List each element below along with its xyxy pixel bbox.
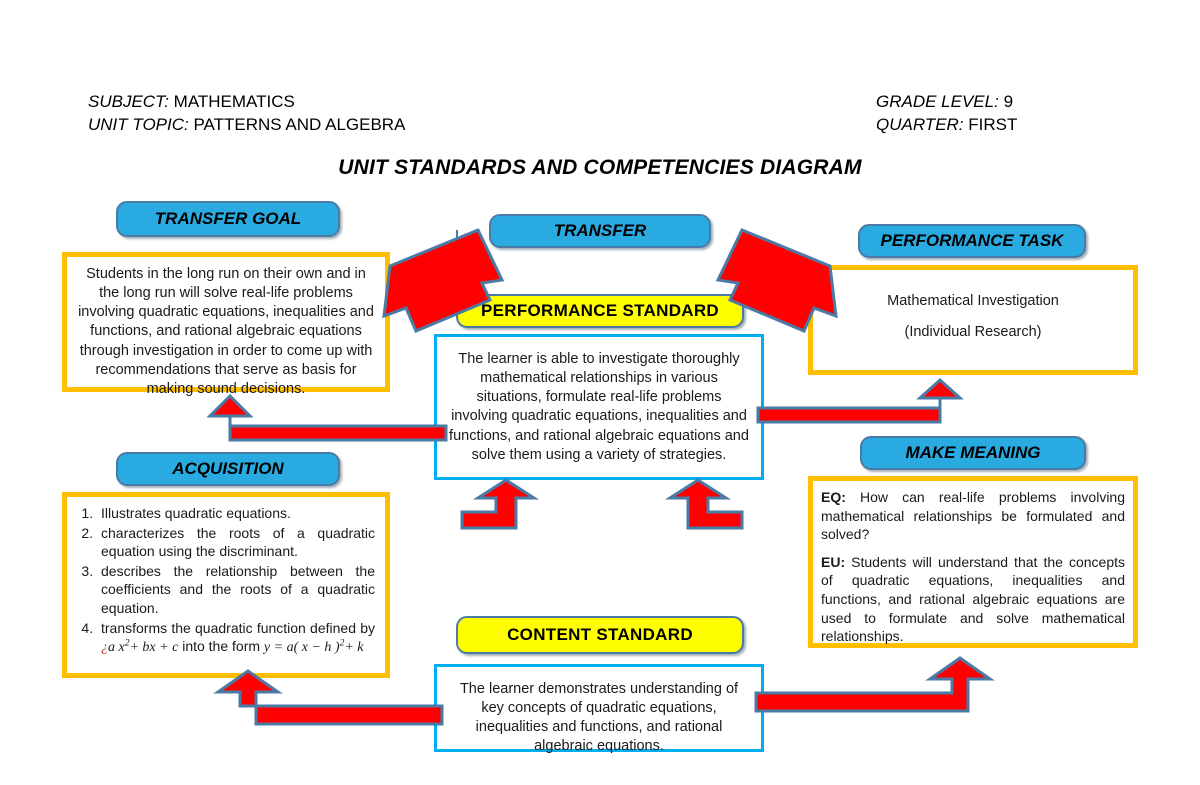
list-item: Illustrates quadratic equations. bbox=[97, 504, 375, 523]
header-grade-label: GRADE LEVEL: bbox=[876, 92, 999, 111]
diagram-canvas: SUBJECT: MATHEMATICS UNIT TOPIC: PATTERN… bbox=[0, 0, 1200, 785]
eq-label: EQ: bbox=[821, 489, 846, 505]
eu-label: EU: bbox=[821, 554, 845, 570]
header-subject-label: SUBJECT: bbox=[88, 92, 169, 111]
list-item-with-formula: transforms the quadratic function define… bbox=[97, 619, 375, 658]
arrow-diagonal-left-to-transfer bbox=[378, 228, 508, 333]
pill-transfer-goal-label: TRANSFER GOAL bbox=[155, 209, 301, 229]
make-meaning-eu: EU: Students will understand that the co… bbox=[821, 553, 1125, 646]
header-subject-value: MATHEMATICS bbox=[174, 92, 295, 111]
performance-standard-text: The learner is able to investigate thoro… bbox=[437, 337, 761, 473]
pill-acquisition-label: ACQUISITION bbox=[172, 459, 283, 479]
header-unit-topic-value: PATTERNS AND ALGEBRA bbox=[193, 115, 405, 134]
acquisition-item4-text-1: transforms the quadratic function define… bbox=[101, 620, 375, 636]
header-grade-value: 9 bbox=[1004, 92, 1013, 111]
box-make-meaning: EQ: How can real-life problems involving… bbox=[808, 476, 1138, 648]
box-performance-task: Mathematical Investigation (Individual R… bbox=[808, 265, 1138, 375]
arrow-elbow-content-to-make-meaning bbox=[756, 655, 1004, 727]
performance-task-line-1: Mathematical Investigation bbox=[823, 292, 1123, 311]
pill-transfer-goal[interactable]: TRANSFER GOAL bbox=[116, 201, 340, 237]
box-transfer-goal: Students in the long run on their own an… bbox=[62, 252, 390, 392]
transfer-goal-text: Students in the long run on their own an… bbox=[67, 257, 385, 407]
list-item: describes the relationship between the c… bbox=[97, 562, 375, 618]
acquisition-item4-text-2: into the form bbox=[182, 638, 260, 654]
pill-transfer[interactable]: TRANSFER bbox=[489, 214, 711, 248]
content-standard-text: The learner demonstrates understanding o… bbox=[437, 667, 761, 765]
list-item: characterizes the roots of a quadratic e… bbox=[97, 524, 375, 561]
header-quarter-label: QUARTER: bbox=[876, 115, 964, 134]
box-acquisition: Illustrates quadratic equations. charact… bbox=[62, 492, 390, 678]
acquisition-formula-2: y = a( x − h )2+ k bbox=[264, 640, 364, 655]
arrow-elbow-make-meaning-to-standard bbox=[652, 478, 742, 534]
arrow-elbow-content-to-acquisition bbox=[176, 668, 442, 740]
acquisition-formula-1: ¿a x2+ bx + c bbox=[101, 640, 178, 655]
header-quarter: QUARTER: FIRST bbox=[876, 115, 1017, 135]
box-performance-standard: The learner is able to investigate thoro… bbox=[434, 334, 764, 480]
pill-content-standard[interactable]: CONTENT STANDARD bbox=[456, 616, 744, 654]
pill-make-meaning-label: MAKE MEANING bbox=[905, 443, 1040, 463]
page-title: UNIT STANDARDS AND COMPETENCIES DIAGRAM bbox=[0, 156, 1200, 180]
header-unit-topic-label: UNIT TOPIC: bbox=[88, 115, 189, 134]
box-content-standard: The learner demonstrates understanding o… bbox=[434, 664, 764, 752]
pill-performance-task-label: PERFORMANCE TASK bbox=[881, 231, 1064, 251]
make-meaning-eq: EQ: How can real-life problems involving… bbox=[821, 488, 1125, 544]
pill-performance-standard-label: PERFORMANCE STANDARD bbox=[481, 301, 719, 321]
arrow-elbow-acquisition-to-standard bbox=[462, 478, 552, 534]
arrow-elbow-standard-to-transfer-goal bbox=[184, 394, 446, 460]
performance-task-line-2: (Individual Research) bbox=[823, 323, 1123, 342]
pill-performance-task[interactable]: PERFORMANCE TASK bbox=[858, 224, 1086, 258]
header-unit-topic: UNIT TOPIC: PATTERNS AND ALGEBRA bbox=[88, 115, 405, 135]
eu-text: Students will understand that the concep… bbox=[821, 554, 1125, 644]
acquisition-list: Illustrates quadratic equations. charact… bbox=[67, 504, 379, 658]
header-grade-level: GRADE LEVEL: 9 bbox=[876, 92, 1013, 112]
pill-transfer-label: TRANSFER bbox=[554, 221, 647, 241]
pill-content-standard-label: CONTENT STANDARD bbox=[507, 625, 693, 645]
arrow-diagonal-right-to-transfer bbox=[712, 228, 842, 333]
header-quarter-value: FIRST bbox=[968, 115, 1017, 134]
header-subject: SUBJECT: MATHEMATICS bbox=[88, 92, 295, 112]
arrow-elbow-standard-to-performance-task bbox=[758, 378, 986, 442]
eq-text: How can real-life problems involving mat… bbox=[821, 489, 1125, 542]
